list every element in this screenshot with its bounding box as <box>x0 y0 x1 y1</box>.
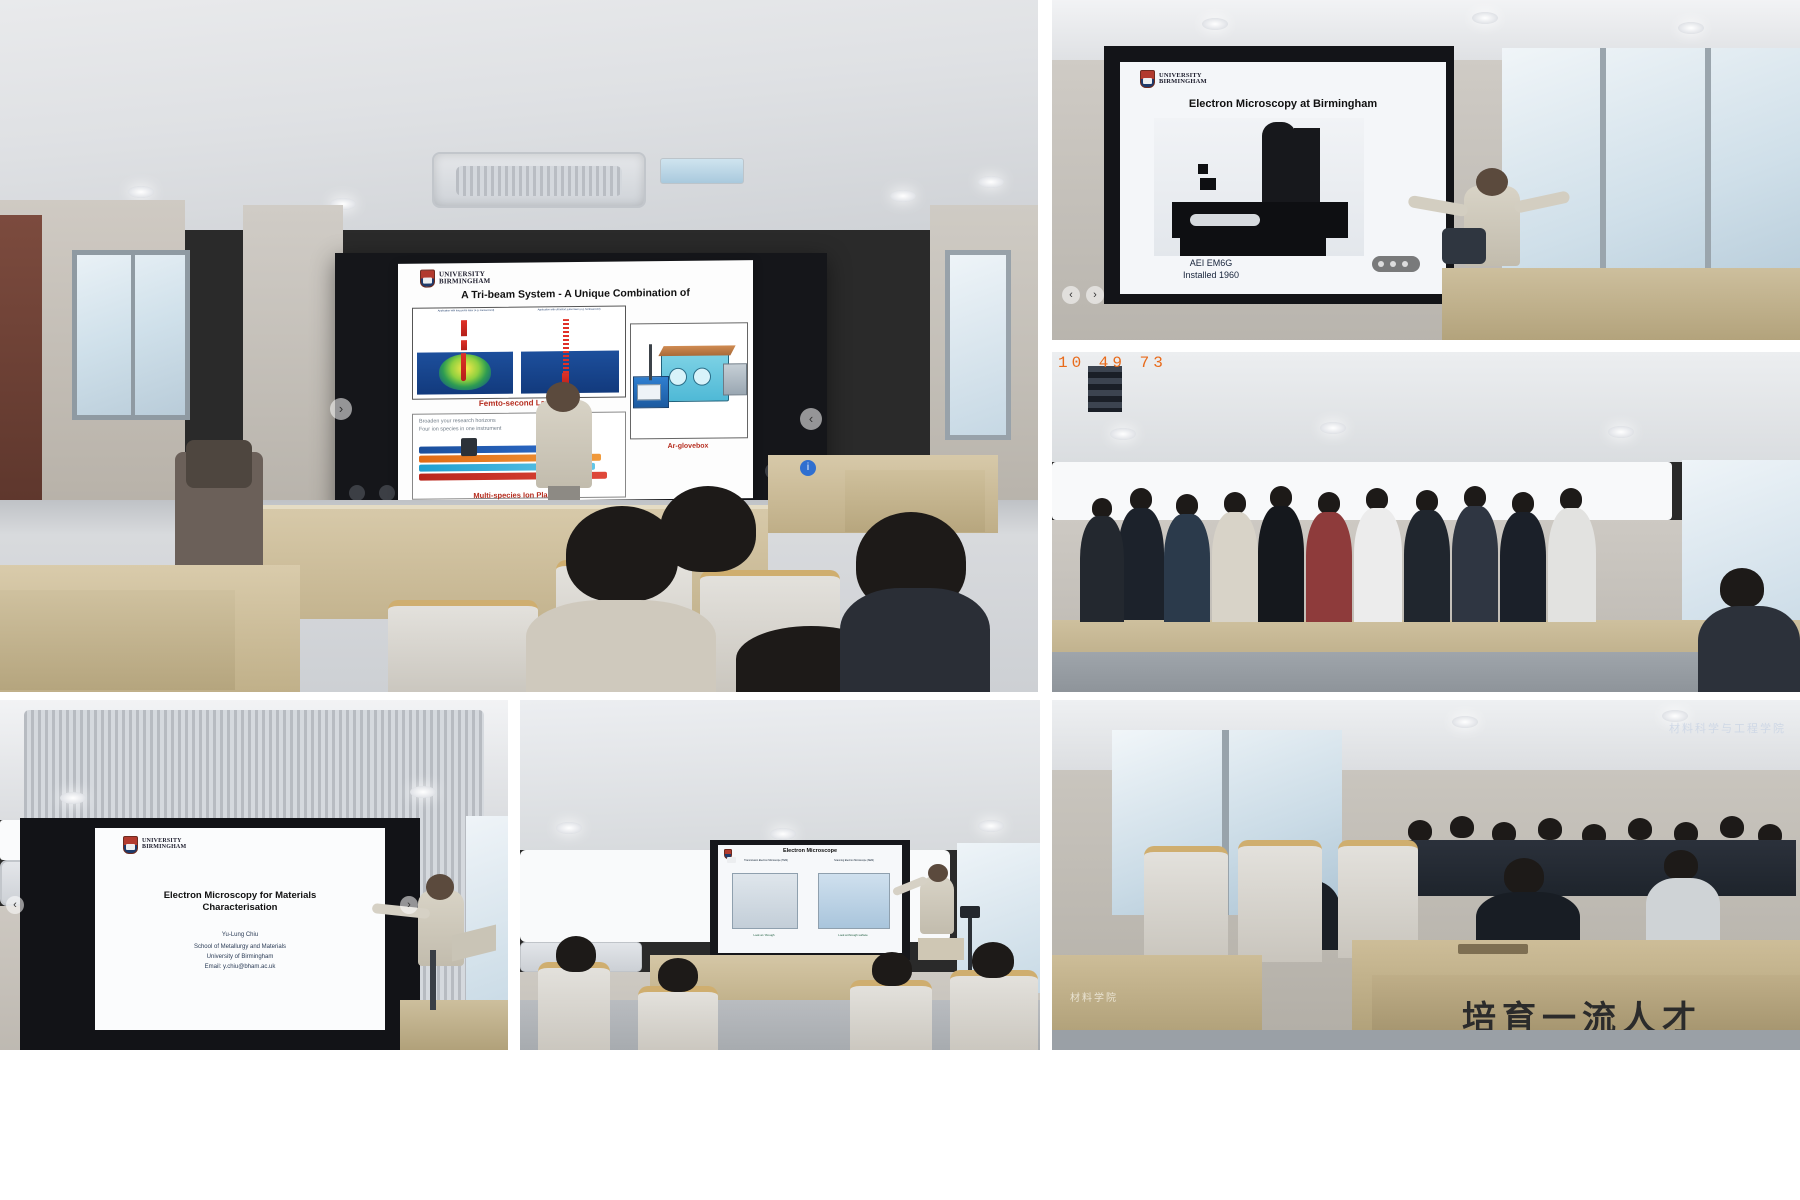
downlight-icon <box>1452 716 1478 728</box>
audience-head <box>1538 818 1562 840</box>
left-wall-red-strip <box>0 215 42 515</box>
microscope-base <box>1180 234 1326 256</box>
control-dot-icon <box>1390 261 1396 267</box>
slide-caption-line1: AEI EM6G <box>1146 258 1276 268</box>
presenter-body <box>920 876 954 934</box>
microscope-column <box>1262 122 1296 206</box>
downlight-icon <box>1608 426 1634 438</box>
audience-chair <box>638 986 718 1050</box>
lectern <box>400 1000 508 1050</box>
student-head <box>1512 492 1534 514</box>
nav-next-arrow[interactable]: › <box>400 896 418 914</box>
student-head <box>1416 490 1438 512</box>
downlight-icon <box>556 822 582 834</box>
microscope-tube <box>1190 214 1260 226</box>
presenter-head <box>546 382 580 412</box>
student-body <box>1500 512 1546 622</box>
audience-head <box>1664 850 1698 880</box>
desk-signage-text: 材料学院 <box>1070 989 1118 1004</box>
student-head <box>1270 486 1292 508</box>
ultrashort-pulse-train <box>563 319 569 375</box>
nav-prev-arrow[interactable]: › <box>330 398 352 420</box>
laser-pulse-bar <box>461 340 467 350</box>
downlight-icon <box>890 190 916 202</box>
audience-chair <box>388 600 538 692</box>
microphone-stand <box>430 950 436 1010</box>
uob-logo: UNIVERSITY BIRMINGHAM <box>123 836 186 854</box>
uob-crest-icon <box>1140 70 1155 88</box>
box-on-desk <box>918 938 964 960</box>
slide-title-line2: Characterisation <box>105 902 375 913</box>
nav-next-arrow[interactable]: ‹ <box>800 408 822 430</box>
led-clock-value: 10 49 73 <box>1058 354 1167 372</box>
window-left <box>72 250 190 420</box>
student-head <box>1130 488 1152 510</box>
glovebox-top <box>658 345 735 356</box>
student-body <box>1080 516 1124 622</box>
ceiling-speaker-icon <box>660 158 744 184</box>
panel-audience[interactable]: 材料科学与工程学院 材料学院 培育 <box>1052 700 1800 1050</box>
tagline-2: Four ion species in one instrument <box>419 426 501 433</box>
downlight-icon <box>60 792 86 804</box>
audience-chair <box>538 962 610 1050</box>
audience-head <box>1628 818 1652 840</box>
foreground-head <box>1720 568 1764 608</box>
downlight-icon <box>1110 428 1136 440</box>
control-dot-icon <box>1402 261 1408 267</box>
camera-icon <box>960 906 980 918</box>
audience-body <box>526 600 716 692</box>
front-desk-top <box>0 590 235 690</box>
glove-port-icon <box>693 368 711 386</box>
uob-line2: BIRMINGHAM <box>439 278 490 285</box>
slide-title-line1: Electron Microscopy for Materials <box>105 890 375 901</box>
window-right <box>945 250 1011 440</box>
laser-comparison-diagram: Application with long pulse laser (e.g. … <box>412 305 626 399</box>
nav-next-arrow[interactable]: › <box>1086 286 1104 304</box>
floor <box>1052 652 1800 692</box>
uob-crest-icon <box>420 269 435 287</box>
slide-caption-line2: Installed 1960 <box>1146 270 1276 280</box>
historic-microscope-photo <box>1154 118 1364 256</box>
nav-prev-arrow[interactable]: ‹ <box>1062 286 1080 304</box>
ion-source-icon <box>461 438 477 456</box>
downlight-icon <box>770 828 796 840</box>
student-head <box>1224 492 1246 514</box>
slide-caption-right: Look at through surface <box>818 933 888 937</box>
downlight-icon <box>410 786 436 798</box>
slide-affiliation-1: School of Metallurgy and Materials <box>105 944 375 950</box>
microscope-column-side <box>1294 128 1320 204</box>
downlight-icon <box>1678 22 1704 34</box>
slide-title: Electron Microscopy at Birmingham <box>1120 98 1446 110</box>
wall-grid-icon <box>1088 366 1122 412</box>
diagram-caption-left: Application with long pulse laser (e.g. … <box>425 310 507 314</box>
audience-body <box>840 588 990 692</box>
pump-panel <box>637 384 661 400</box>
panel-group-photo[interactable]: 10 49 73 <box>1052 352 1800 692</box>
presenter-head <box>426 874 454 900</box>
audience-head <box>872 952 912 986</box>
panel-main-lecture[interactable]: UNIVERSITY BIRMINGHAM A Tri-beam System … <box>0 0 1038 692</box>
slide-affiliation-2: University of Birmingham <box>105 954 375 960</box>
downlight-icon <box>128 186 154 198</box>
student-body <box>1306 512 1352 622</box>
uob-line2: BIRMINGHAM <box>1159 79 1207 85</box>
sem-photo <box>818 873 890 929</box>
student-head <box>1318 492 1340 514</box>
slide-author: Yu-Lung Chiu <box>105 932 375 938</box>
audience-body <box>1646 878 1720 944</box>
slide-caption-left: Look at / through <box>732 933 796 937</box>
screen-control-dot <box>349 485 365 501</box>
front-desk <box>1442 268 1800 340</box>
foreground-body <box>1698 606 1800 692</box>
presenter-body <box>536 400 592 488</box>
downlight-icon <box>1472 12 1498 24</box>
glovebox-illustration <box>630 322 748 439</box>
student-body <box>1212 512 1258 622</box>
nav-prev-arrow[interactable]: ‹ <box>6 896 24 914</box>
downlight-icon <box>1202 18 1228 30</box>
audience-chair <box>1144 846 1228 962</box>
student-head <box>1092 498 1112 518</box>
presenter-head <box>1476 168 1508 196</box>
side-cabinet <box>723 363 747 395</box>
photo-collage: UNIVERSITY BIRMINGHAM A Tri-beam System … <box>0 0 1800 1200</box>
femto-laser-caption: Femto-second Laser <box>412 397 624 408</box>
slide-sub-left: Transmission Electron Microscope (TEM) <box>724 859 808 862</box>
student-body <box>1404 510 1450 622</box>
uob-logo: UNIVERSITY BIRMINGHAM <box>1140 70 1207 88</box>
student-body <box>1354 508 1402 622</box>
panel-title-slide[interactable]: UNIVERSITY BIRMINGHAM Electron Microscop… <box>0 700 508 1050</box>
audience-head <box>1720 816 1744 838</box>
air-conditioner-vent-icon <box>432 152 646 208</box>
slide-title: UNIVERSITY BIRMINGHAM Electron Microscop… <box>95 828 385 1030</box>
microscope-knob <box>1200 178 1216 190</box>
student-head <box>1366 488 1388 510</box>
audience-chair <box>1238 840 1322 962</box>
slide-title: Electron Microscope <box>718 848 902 854</box>
audience-row-mass <box>1396 840 1796 896</box>
audience-head <box>1408 820 1432 842</box>
floor <box>1052 1030 1800 1050</box>
audience-head-front <box>1504 858 1544 894</box>
downlight-icon <box>978 176 1004 188</box>
student-body <box>1452 506 1498 622</box>
audience-head <box>1450 816 1474 838</box>
panel-wide-room[interactable]: Electron Microscope Transmission Electro… <box>520 700 1040 1050</box>
laser-pulse-bar <box>461 320 467 336</box>
glove-port-icon <box>669 368 687 386</box>
student-body <box>1164 514 1210 622</box>
ion-plasma-panel: Broaden your research horizons Four ion … <box>412 411 626 499</box>
audience-head <box>660 486 756 572</box>
uob-logo: UNIVERSITY BIRMINGHAM <box>420 269 490 288</box>
office-chair <box>1442 228 1486 264</box>
student-head <box>1464 486 1486 508</box>
uob-line2: BIRMINGHAM <box>142 845 186 851</box>
student-body <box>1548 508 1596 622</box>
downlight-icon <box>1320 422 1346 434</box>
tagline-1: Broaden your research horizons <box>419 418 496 425</box>
diagram-caption-right: Application with ultrashort pulse laser … <box>525 309 613 313</box>
presenter-head <box>928 864 948 882</box>
audience-head <box>658 958 698 992</box>
screen-control-dot <box>379 485 395 501</box>
slide-title: A Tri-beam System - A Unique Combination… <box>404 286 747 302</box>
tem-photo <box>732 873 798 929</box>
info-badge-icon[interactable]: i <box>800 460 816 476</box>
student-head <box>1176 494 1198 516</box>
audience-head <box>972 942 1014 978</box>
audience-chair <box>850 980 932 1050</box>
window <box>1502 48 1800 298</box>
window <box>466 816 508 1006</box>
downlight-icon <box>978 820 1004 832</box>
glovebox-caption: Ar-glovebox <box>630 442 746 450</box>
microscope-knob <box>1198 164 1208 174</box>
student-body <box>1258 506 1304 622</box>
student-head <box>1560 488 1582 510</box>
side-chair-back <box>186 440 252 488</box>
control-dot-icon <box>1378 261 1384 267</box>
panel-em-birmingham[interactable]: UNIVERSITY BIRMINGHAM Electron Microscop… <box>1052 0 1800 340</box>
audience-chair <box>950 970 1038 1050</box>
desk-microphone <box>1458 944 1528 954</box>
slide-email: Email: y.chiu@bham.ac.uk <box>105 964 375 970</box>
slide-sub-right: Scanning Electron Microscope (SEM) <box>812 859 896 862</box>
audience-head <box>556 936 596 972</box>
slide-electron-microscope: Electron Microscope Transmission Electro… <box>718 845 902 953</box>
laser-beam <box>461 353 466 381</box>
support-arm <box>649 344 652 380</box>
uob-crest-icon <box>123 836 138 854</box>
wall-signage-text: 材料科学与工程学院 <box>1669 720 1786 736</box>
student-body <box>1118 508 1164 620</box>
